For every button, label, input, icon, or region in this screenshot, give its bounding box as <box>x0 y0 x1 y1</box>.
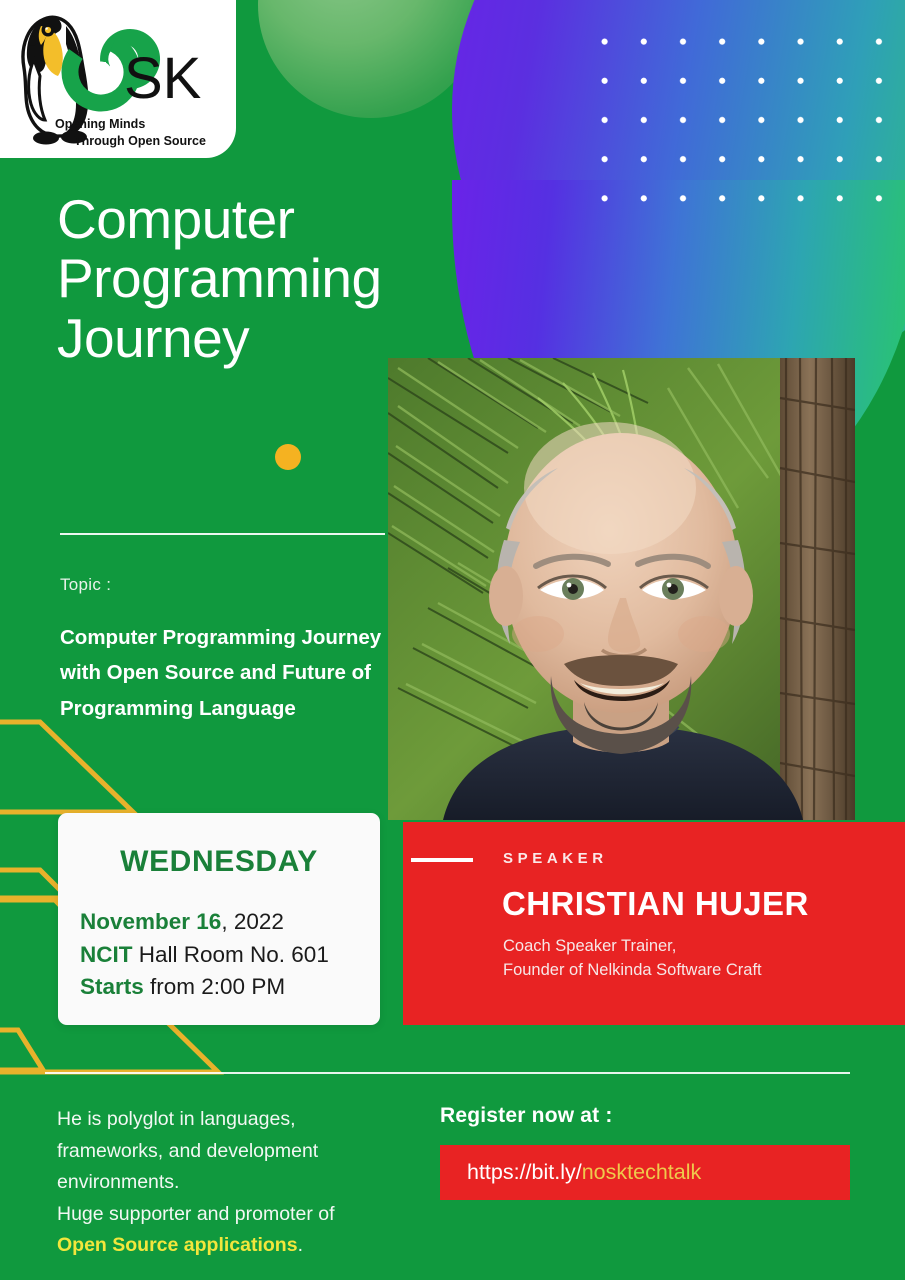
logo-card: SK Opening Minds Through Open Source <box>0 0 236 158</box>
event-details: November 16, 2022 NCIT Hall Room No. 601… <box>80 906 366 1004</box>
event-date-bold: November 16 <box>80 909 221 934</box>
event-date: November 16, 2022 <box>80 906 366 939</box>
speaker-bio: He is polyglot in languages, frameworks,… <box>57 1104 407 1262</box>
logo-tagline-line1: Opening Minds <box>55 116 230 133</box>
event-date-rest: , 2022 <box>221 909 284 934</box>
title-line-1: Computer <box>57 190 527 249</box>
event-time: Starts from 2:00 PM <box>80 971 366 1004</box>
event-venue: NCIT Hall Room No. 601 <box>80 939 366 972</box>
speaker-name: CHRISTIAN HUJER <box>502 885 809 923</box>
event-venue-rest: Hall Room No. 601 <box>133 942 329 967</box>
bio-line-5: Open Source applications. <box>57 1230 407 1262</box>
bio-line-4: Huge supporter and promoter of <box>57 1199 407 1231</box>
bio-period: . <box>298 1234 303 1256</box>
speaker-role: Coach Speaker Trainer, Founder of Nelkin… <box>503 935 762 983</box>
register-url[interactable]: https://bit.ly/nosktechtalk <box>467 1145 701 1200</box>
light-green-circle-decoration <box>258 0 484 118</box>
dot-grid-pattern <box>585 22 905 202</box>
speaker-dash-decoration <box>411 858 473 862</box>
register-url-box[interactable]: https://bit.ly/nosktechtalk <box>440 1145 850 1200</box>
register-label: Register now at : <box>440 1104 613 1128</box>
speaker-band: SPEAKER CHRISTIAN HUJER Coach Speaker Tr… <box>403 822 905 1025</box>
bio-line-1: He is polyglot in languages, <box>57 1104 407 1136</box>
speaker-role-line-2: Founder of Nelkinda Software Craft <box>503 959 762 983</box>
event-weekday: WEDNESDAY <box>58 845 380 879</box>
date-card: WEDNESDAY November 16, 2022 NCIT Hall Ro… <box>58 813 380 1025</box>
topic-label: Topic : <box>60 575 111 595</box>
bio-highlight: Open Source applications <box>57 1234 298 1256</box>
speaker-kicker: SPEAKER <box>503 850 608 867</box>
logo-tagline-line2: Through Open Source <box>74 133 230 150</box>
event-poster: SK Opening Minds Through Open Source Com… <box>0 0 905 1280</box>
event-venue-bold: NCIT <box>80 942 133 967</box>
logo-tagline: Opening Minds Through Open Source <box>55 116 230 150</box>
event-time-rest: from 2:00 PM <box>144 974 285 999</box>
bio-line-3: environments. <box>57 1167 407 1199</box>
speaker-role-line-1: Coach Speaker Trainer, <box>503 935 762 959</box>
poster-title: Computer Programming Journey <box>57 190 527 368</box>
yellow-dot-decoration <box>275 444 301 470</box>
title-line-2: Programming <box>57 249 527 308</box>
topic-divider <box>60 533 385 535</box>
speaker-photo <box>388 358 855 820</box>
bottom-divider <box>45 1072 850 1074</box>
register-url-prefix: https://bit.ly/ <box>467 1160 582 1185</box>
register-url-slug: nosktechtalk <box>582 1160 702 1185</box>
event-time-bold: Starts <box>80 974 144 999</box>
bio-line-2: frameworks, and development <box>57 1136 407 1168</box>
svg-text:SK: SK <box>124 46 202 111</box>
